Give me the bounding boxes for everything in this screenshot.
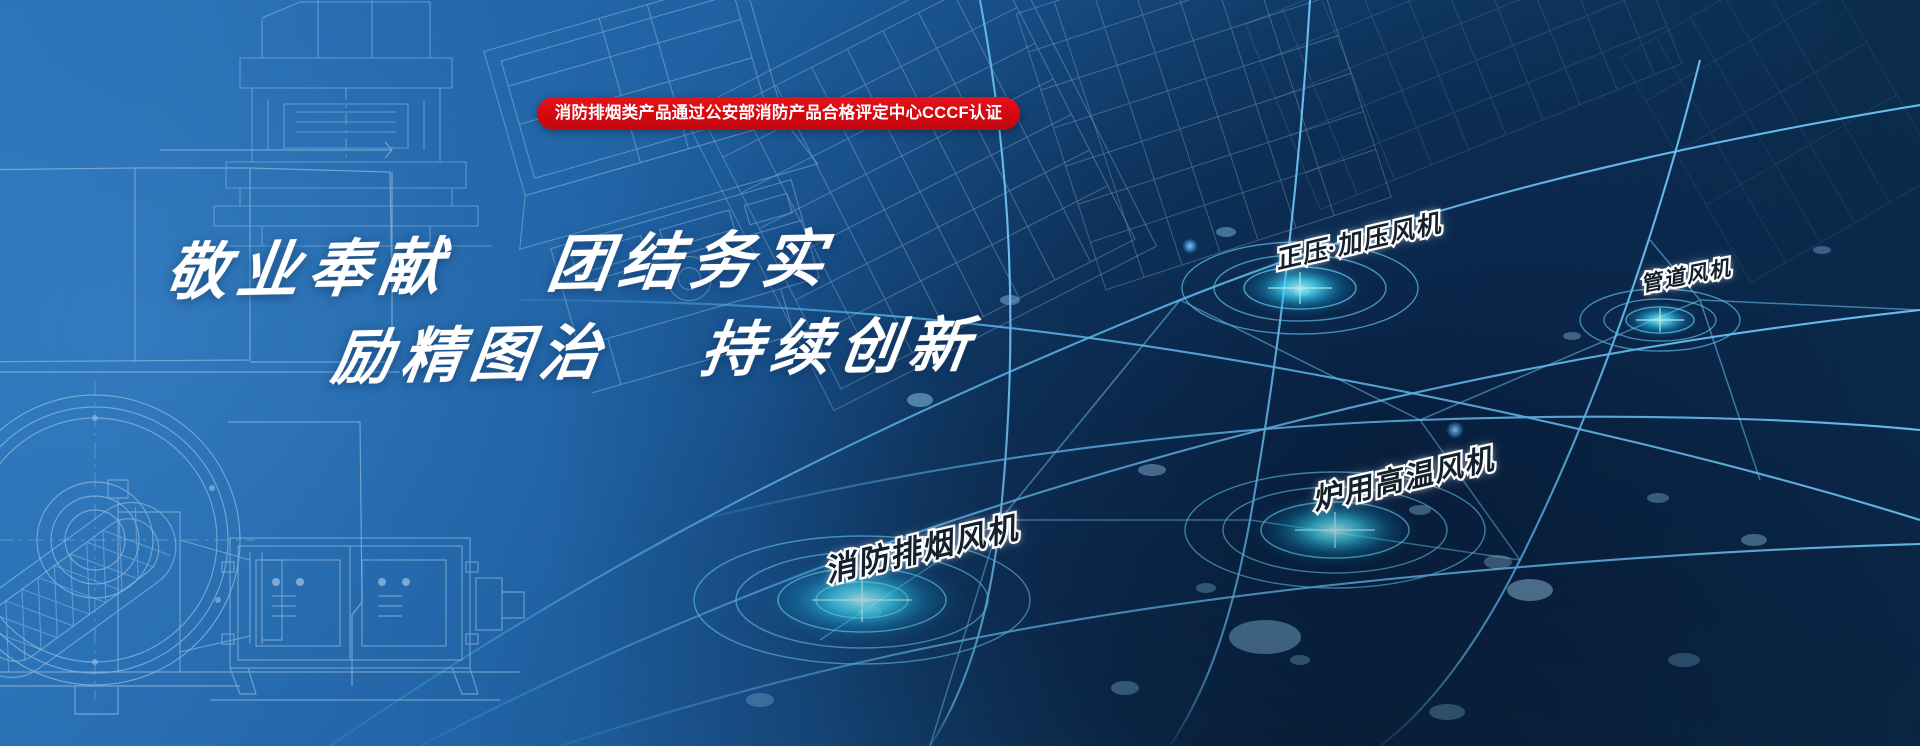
slogan-line-2: 励精图治 持续创新 — [327, 296, 985, 396]
slogan-line1-part2: 团结务实 — [544, 226, 838, 300]
hero-banner: 消防排烟类产品通过公安部消防产品合格评定中心CCCF认证 敬业奉献 团结务实 励… — [0, 0, 1920, 746]
slogan-line2-part1: 励精图治 — [328, 320, 614, 392]
slogan-gap — [630, 372, 674, 373]
certification-banner-text: 消防排烟类产品通过公安部消防产品合格评定中心CCCF认证 — [555, 105, 1002, 122]
slogan-line1-part1: 敬业奉献 — [161, 234, 455, 308]
slogan-line-1: 敬业奉献 团结务实 — [161, 208, 840, 312]
slogan-line2-part2: 持续创新 — [697, 312, 983, 384]
slogan-gap — [473, 286, 521, 287]
certification-banner: 消防排烟类产品通过公安部消防产品合格评定中心CCCF认证 — [537, 97, 1020, 130]
